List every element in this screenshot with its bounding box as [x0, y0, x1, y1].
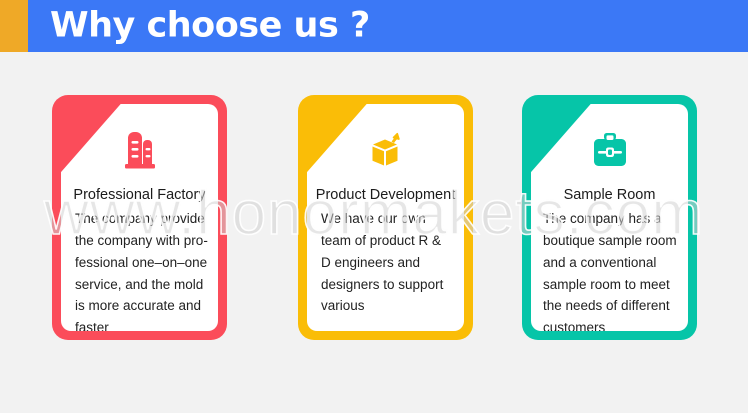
feature-card-sample-room[interactable]: Sample Room The company has a boutique s…: [522, 95, 697, 340]
page-title: Why choose us ?: [50, 9, 370, 44]
header-accent-bar: [0, 0, 28, 52]
card-heading: Professional Factory: [61, 188, 218, 204]
card-body-text: The company has a boutique sample room a…: [543, 208, 680, 331]
card-heading: Sample Room: [531, 188, 688, 204]
product-box-arrow-icon: [307, 122, 464, 178]
card-inner-panel: Product Development We have our own team…: [307, 104, 464, 331]
card-body-text: We have our own team of product R & D en…: [321, 208, 454, 317]
feature-card-professional-factory[interactable]: Professional Factory The company provide…: [52, 95, 227, 340]
card-body-text: The company provide the company with pro…: [75, 208, 208, 331]
card-inner-panel: Sample Room The company has a boutique s…: [531, 104, 688, 331]
card-heading: Product Development: [307, 188, 464, 204]
page-header: Why choose us ?: [0, 0, 748, 52]
feature-card-product-development[interactable]: Product Development We have our own team…: [298, 95, 473, 340]
header-title-bar: Why choose us ?: [28, 0, 748, 52]
feature-cards-row: Professional Factory The company provide…: [0, 52, 748, 413]
factory-building-icon: [61, 122, 218, 178]
card-inner-panel: Professional Factory The company provide…: [61, 104, 218, 331]
briefcase-icon: [531, 122, 688, 178]
